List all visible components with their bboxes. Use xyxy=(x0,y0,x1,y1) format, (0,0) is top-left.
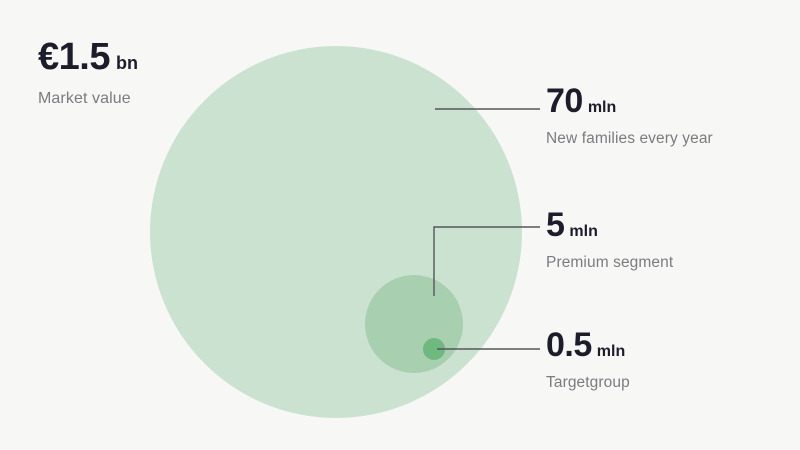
callout-premium-segment-number: 5 xyxy=(546,208,564,244)
bubble-infographic: €1.5 bn Market value 70 mln New families… xyxy=(0,0,800,450)
callout-premium-segment-caption: Premium segment xyxy=(546,254,673,273)
market-value-caption: Market value xyxy=(38,89,358,108)
callout-new-families-caption: New families every year xyxy=(546,130,713,149)
market-value-number: €1.5 xyxy=(38,38,110,78)
callout-targetgroup: 0.5 mln Targetgroup xyxy=(546,328,630,392)
callout-targetgroup-number: 0.5 xyxy=(546,328,592,364)
callout-premium-segment: 5 mln Premium segment xyxy=(546,208,673,272)
market-value-unit: bn xyxy=(116,53,138,74)
callout-targetgroup-caption: Targetgroup xyxy=(546,374,630,393)
market-value-stat: €1.5 bn Market value xyxy=(38,38,358,108)
callout-new-families-row: 70 mln xyxy=(546,84,713,120)
bubble-middle-premium-segment xyxy=(365,275,463,373)
callout-premium-segment-unit: mln xyxy=(569,223,597,241)
market-value-row: €1.5 bn xyxy=(38,38,358,78)
callout-new-families-number: 70 xyxy=(546,84,583,120)
callout-targetgroup-unit: mln xyxy=(597,343,625,361)
callout-targetgroup-row: 0.5 mln xyxy=(546,328,630,364)
callout-premium-segment-row: 5 mln xyxy=(546,208,673,244)
callout-new-families-unit: mln xyxy=(588,99,616,117)
callout-new-families: 70 mln New families every year xyxy=(546,84,713,148)
